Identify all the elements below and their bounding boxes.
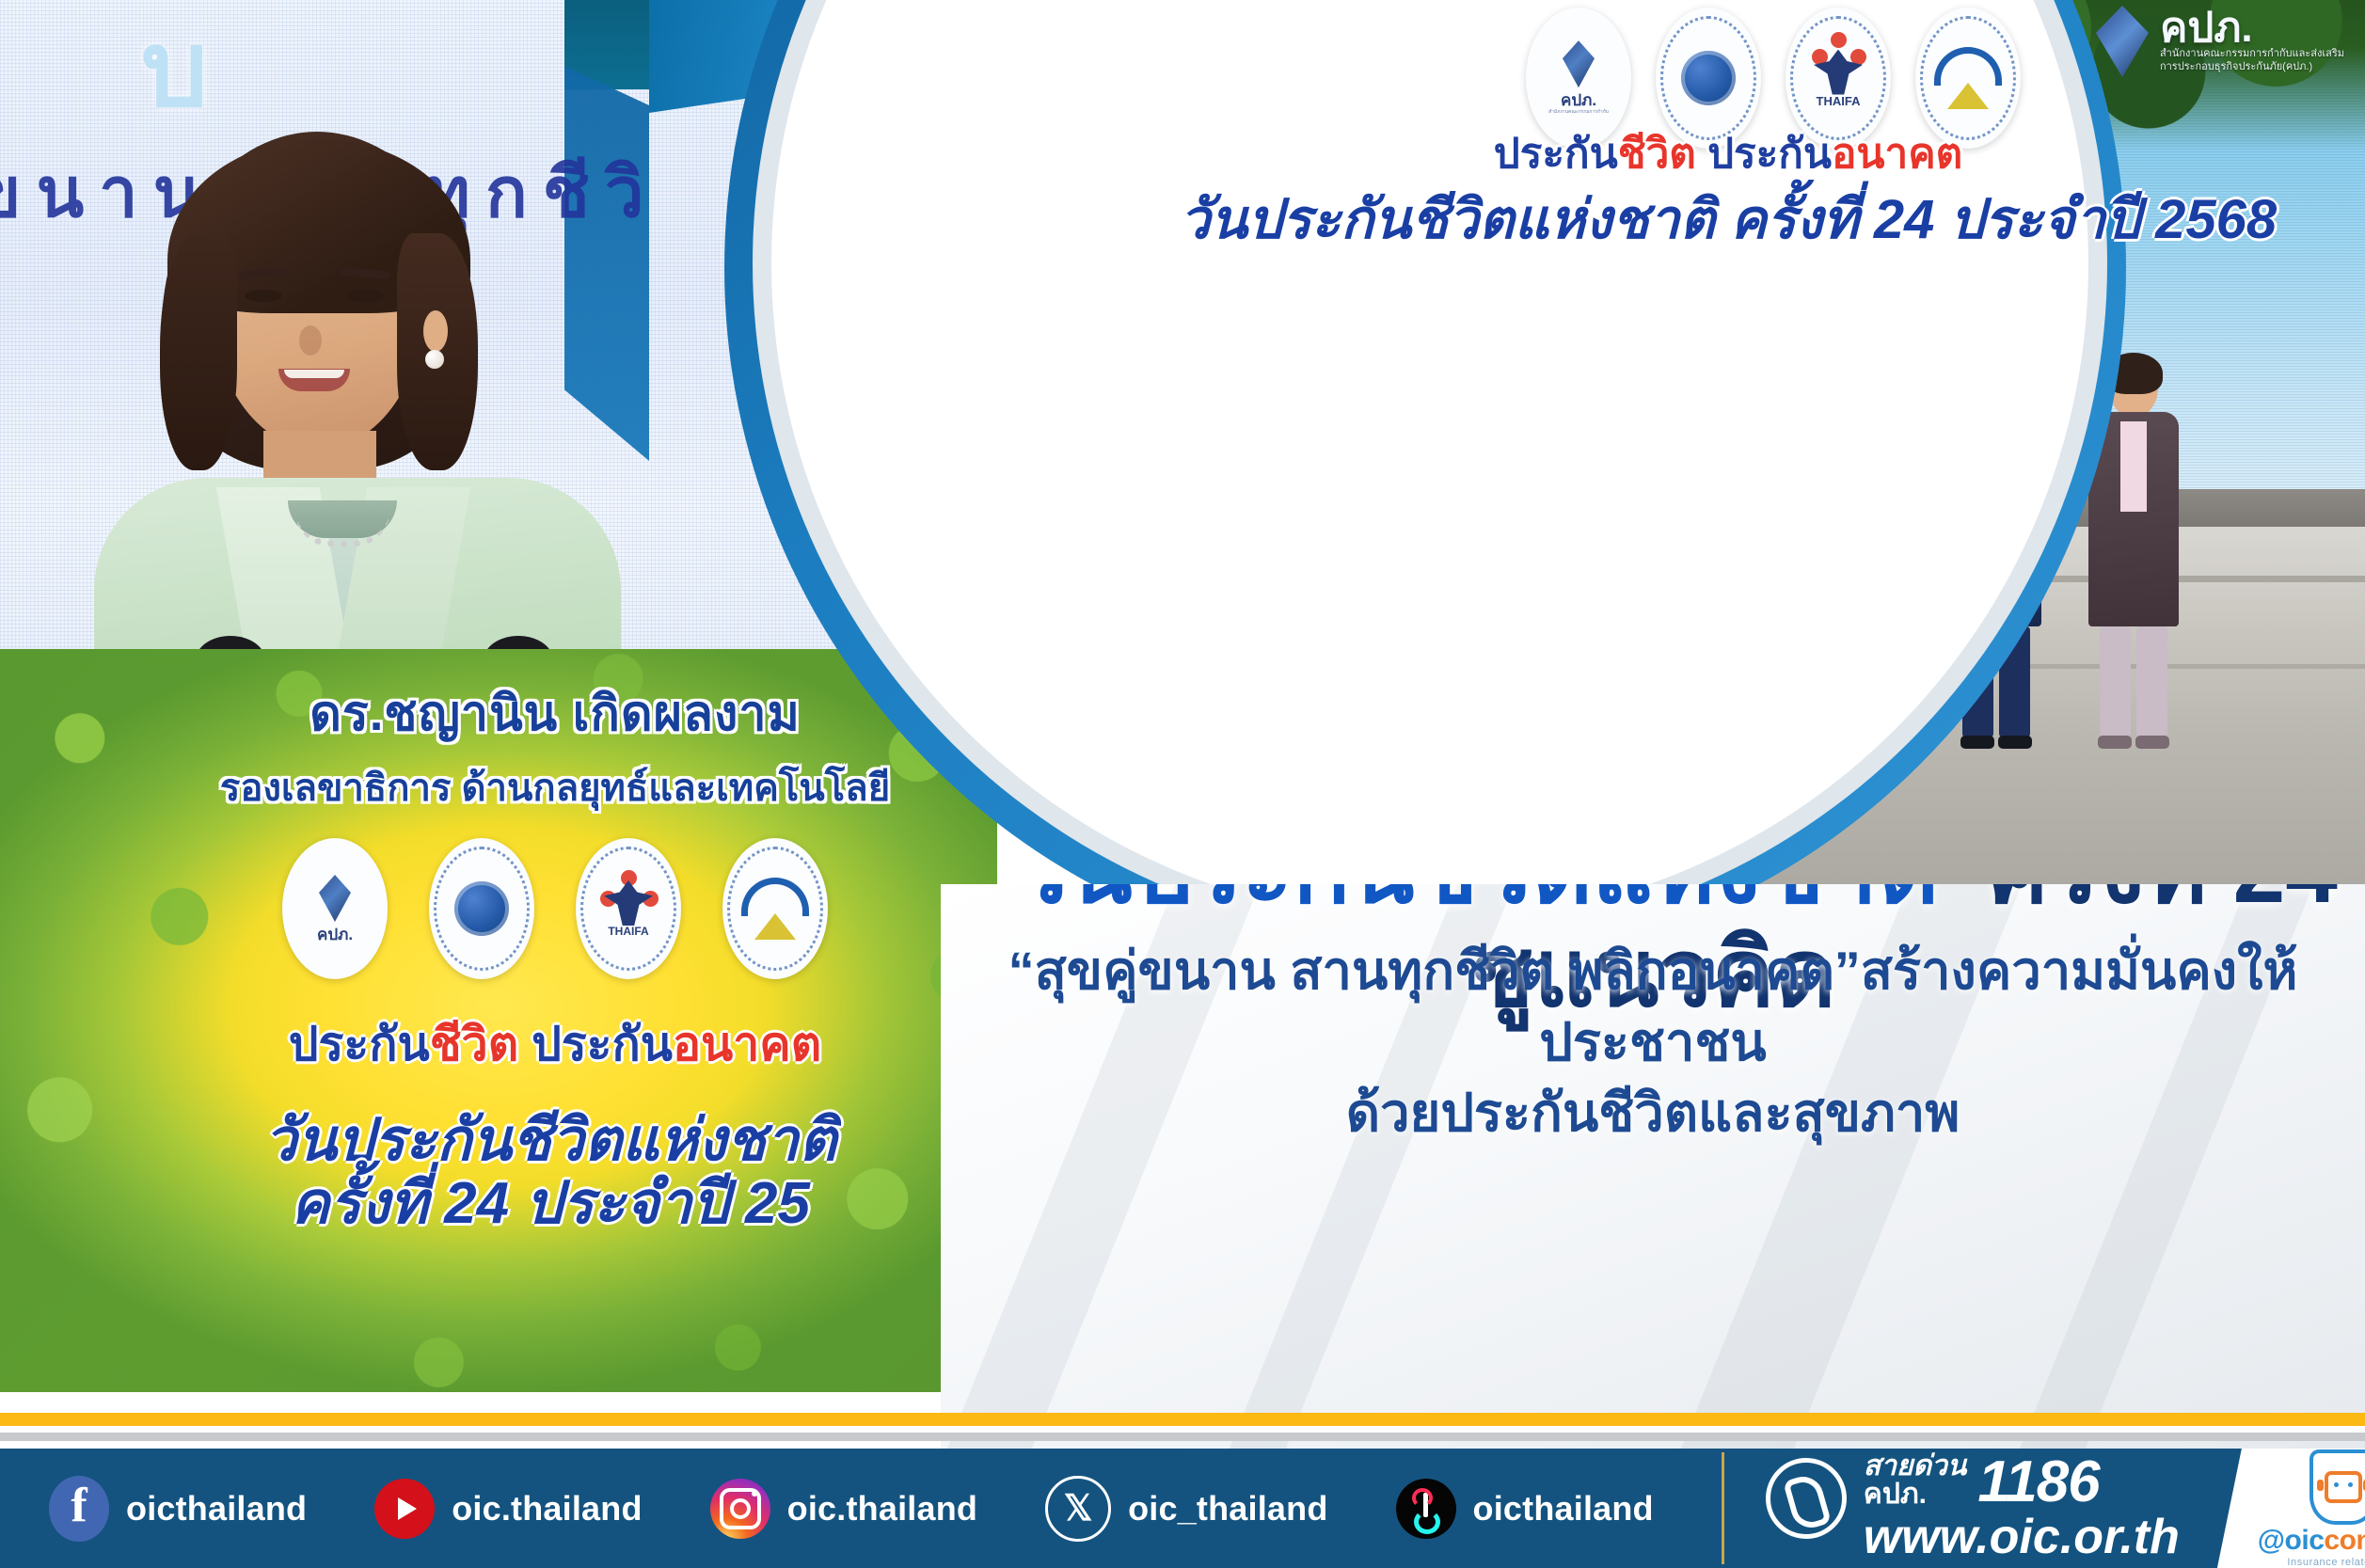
oic-brand-name: คปภ. xyxy=(2160,8,2344,48)
youtube-icon[interactable] xyxy=(374,1479,435,1539)
social-youtube[interactable]: oic.thailand xyxy=(374,1479,642,1539)
facebook-handle[interactable]: oicthailand xyxy=(126,1489,307,1528)
phone-icon xyxy=(1766,1458,1847,1539)
oic-logo-sub: สำนักงานคณะกรรมการกำกับ xyxy=(1543,110,1614,116)
oicconnect-name: @oicconnect xyxy=(2258,1527,2365,1555)
photo-collage: คปภ. สำนักงานคณะกรรมการกำกับ THAIFA xyxy=(0,0,2365,1449)
headline-panel: คปภ. ร่วมขับเคลื่อน “วันประกันชีวิตแห่งช… xyxy=(941,884,2365,1449)
podium-lif-logo xyxy=(722,838,828,979)
podium-event-line1: วันประกันชีวิตแห่งชาติ xyxy=(103,1110,997,1173)
podium-slogan-p3: ประกัน xyxy=(518,1018,673,1070)
podium-event-title: วันประกันชีวิตแห่งชาติ ครั้งที่ 24 ประจำ… xyxy=(103,1110,997,1236)
speaker-ear xyxy=(423,310,448,352)
speaker-name: ดร.ชญานิน เกิดผลงาม xyxy=(113,673,997,752)
speaker-eye-left xyxy=(245,290,282,302)
divider-grey-stripe xyxy=(0,1433,2365,1441)
podium-lif-ring-icon xyxy=(727,847,823,971)
backdrop-slogan-p3: ประกัน xyxy=(1696,131,1832,177)
shield-icon xyxy=(2309,1449,2365,1525)
podium-slogan-p2: ชีวิต xyxy=(430,1018,518,1070)
podium-tlaa-ring-icon xyxy=(434,847,530,971)
social-links: f oicthailand oic.thailand oic.thailand … xyxy=(0,1476,1722,1542)
podium-oic-caption: คปภ. xyxy=(317,927,353,942)
oicconnect-block[interactable]: @oicconnect Insurance related info xyxy=(2217,1449,2365,1568)
speaker-figure xyxy=(94,132,621,734)
page-subtitle: “สุขคู่ขนาน สานทุกชีวิต พลิกอนาคต”สร้างค… xyxy=(941,935,2365,1148)
backdrop-event-title: วันประกันชีวิตแห่งชาติ ครั้งที่ 24 ประจำ… xyxy=(1091,175,2365,262)
oicconnect-tagline: Insurance related info xyxy=(2287,1557,2365,1568)
podium-board: ดร.ชญานิน เกิดผลงาม รองเลขาธิการ ด้านกลย… xyxy=(0,649,997,1392)
hotline-number[interactable]: 1186 xyxy=(1977,1455,2099,1509)
divider-white-stripe xyxy=(0,1426,2365,1433)
x-twitter-icon[interactable]: 𝕏 xyxy=(1045,1476,1111,1542)
speaker-role: รองเลขาธิการ ด้านกลยุทธ์และเทคโนโลยี xyxy=(113,757,997,817)
oicconnect-name-b: connect xyxy=(2324,1525,2365,1556)
page-subtitle-line2: ด้วยประกันชีวิตและสุขภาพ xyxy=(941,1077,2365,1148)
podium-slogan: ประกันชีวิต ประกันอนาคต xyxy=(113,1007,997,1082)
led-text-top: บ xyxy=(141,17,214,122)
oic-brand-sub2: การประกอบธุรกิจประกันภัย(คปภ.) xyxy=(2160,61,2344,74)
podium-event-line2: ครั้งที่ 24 ประจำปี 25 xyxy=(103,1173,997,1236)
page-title-quote: “วันประกันชีวิตแห่งชาติ” xyxy=(968,884,1985,923)
footer-divider xyxy=(0,1413,2365,1449)
oic-brand-sub1: สำนักงานคณะกรรมการกำกับและส่งเสริม xyxy=(2160,48,2344,61)
footer-bar: f oicthailand oic.thailand oic.thailand … xyxy=(0,1449,2365,1568)
speaker-eye-right xyxy=(346,290,384,302)
backdrop-slogan-p4: อนาคต xyxy=(1832,131,1962,177)
speaker-mouth xyxy=(278,369,350,391)
divider-yellow-stripe xyxy=(0,1413,2365,1426)
podium-slogan-p1: ประกัน xyxy=(289,1018,430,1070)
speaker-earring xyxy=(425,350,444,369)
x-twitter-handle[interactable]: oic_thailand xyxy=(1128,1489,1327,1528)
oic-diamond-icon xyxy=(1563,40,1595,87)
facebook-icon[interactable]: f xyxy=(49,1476,109,1542)
podium-oic-logo: คปภ. xyxy=(282,838,388,979)
speaker-hair-left xyxy=(160,235,237,470)
speaker-nose xyxy=(299,325,322,356)
hotline-label-line1: สายด่วน xyxy=(1864,1452,1967,1481)
podium-slogan-p4: อนาคต xyxy=(673,1018,821,1070)
podium-thaifa-logo: THAIFA xyxy=(576,838,681,979)
page-subtitle-line1: “สุขคู่ขนาน สานทุกชีวิต พลิกอนาคต”สร้างค… xyxy=(941,935,2365,1077)
podium-oic-diamond-icon xyxy=(319,875,351,922)
instagram-icon[interactable] xyxy=(710,1479,770,1539)
website-url[interactable]: www.oic.or.th xyxy=(1864,1511,2180,1563)
youtube-handle[interactable]: oic.thailand xyxy=(452,1489,642,1528)
oic-logo-caption: คปภ. xyxy=(1561,92,1596,108)
social-facebook[interactable]: f oicthailand xyxy=(49,1476,307,1542)
thaifa-dot-top-icon xyxy=(1831,32,1847,48)
oicconnect-name-a: @oic xyxy=(2258,1525,2325,1556)
podium-tlaa-logo xyxy=(429,838,534,979)
backdrop-slogan-p2: ชีวิต xyxy=(1618,131,1696,177)
instagram-handle[interactable]: oic.thailand xyxy=(787,1489,977,1528)
social-x-twitter[interactable]: 𝕏 oic_thailand xyxy=(1045,1476,1327,1542)
promo-graphic-canvas: คปภ. สำนักงานคณะกรรมการกำกับ THAIFA xyxy=(0,0,2365,1568)
hotline-block[interactable]: สายด่วน คปภ. 1186 www.oic.or.th xyxy=(1722,1452,2180,1563)
oic-corner-brand: คปภ. สำนักงานคณะกรรมการกำกับและส่งเสริม … xyxy=(2096,6,2344,77)
podium-logo-row: คปภ. THAIFA xyxy=(113,838,997,979)
chatbot-icon xyxy=(2325,1471,2362,1503)
tiktok-handle[interactable]: oicthailand xyxy=(1473,1489,1654,1528)
tiktok-icon[interactable] xyxy=(1396,1479,1456,1539)
oic-brand-diamond-icon xyxy=(2096,6,2149,77)
backdrop-slogan-p1: ประกัน xyxy=(1494,131,1618,177)
hotline-label-line2: คปภ. xyxy=(1864,1481,1967,1509)
social-instagram[interactable]: oic.thailand xyxy=(710,1479,977,1539)
social-tiktok[interactable]: oicthailand xyxy=(1396,1479,1654,1539)
